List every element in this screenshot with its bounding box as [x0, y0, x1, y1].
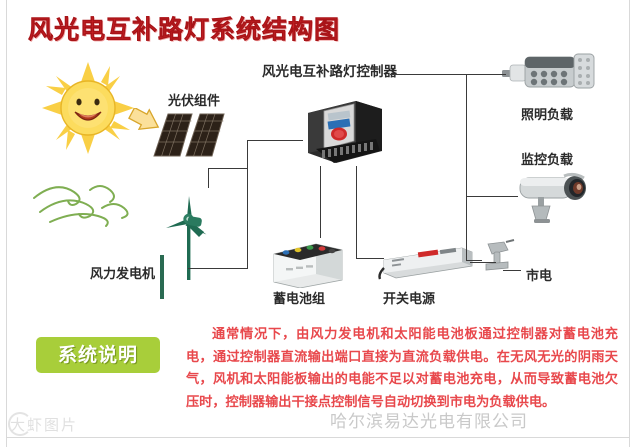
wire-controller-stub-left	[320, 166, 321, 180]
system-note-body: 通常情况下，由风力发电机和太阳能电池板通过控制器对蓄电池充电，通过控制器直流输出…	[186, 324, 618, 414]
solar-panel-icon	[152, 108, 236, 170]
sun-icon	[42, 62, 134, 154]
label-pv-module: 光伏组件	[168, 90, 220, 109]
wire-controller-stub-right	[356, 166, 357, 180]
wire-controller-to-battery	[320, 180, 321, 238]
frame-border-left	[6, 0, 7, 447]
wire-bus-to-controller	[247, 140, 303, 141]
wire-bus-to-camera	[466, 196, 518, 197]
wind-turbine-icon	[156, 188, 224, 280]
label-switching-power-supply: 开关电源	[383, 288, 435, 307]
wire-bus-to-lamp	[466, 74, 506, 75]
switching-power-supply-icon	[378, 246, 474, 280]
frame-border-bottom	[6, 437, 630, 438]
battery-icon	[270, 240, 346, 288]
divider-bar	[160, 255, 164, 299]
wire-controller-down	[356, 180, 357, 258]
wire-ps-to-bus	[470, 262, 496, 263]
wire-to-power-supply	[356, 258, 384, 259]
label-controller: 风光电互补路灯控制器	[262, 60, 397, 80]
wire-right-bus	[466, 74, 467, 260]
label-lighting-load: 照明负载	[521, 104, 573, 123]
wire-bus-to-mains	[466, 260, 482, 261]
watermark-company: 哈尔滨易达光电有限公司	[330, 407, 528, 432]
label-mains-power: 市电	[526, 265, 552, 284]
diagram-canvas: 风光电互补路灯系统结构图	[0, 0, 637, 447]
wire-controller-to-right-bus	[390, 74, 466, 75]
led-lamp-icon	[500, 48, 596, 94]
wind-swirl-icon	[28, 168, 138, 230]
wire-mains-to-label	[503, 270, 521, 271]
wire-pv-down	[208, 168, 209, 188]
watermark-logo-text: 大虾图片	[10, 414, 78, 435]
mains-power-icon	[478, 238, 518, 274]
wire-wind-to-bus	[188, 268, 248, 269]
page-title: 风光电互补路灯系统结构图	[28, 10, 340, 46]
label-battery-bank: 蓄电池组	[273, 288, 325, 307]
frame-border-right	[629, 0, 630, 447]
system-note-badge-label: 系统说明	[36, 337, 160, 373]
label-monitoring-load: 监控负载	[521, 149, 573, 168]
surveillance-camera-icon	[512, 168, 598, 228]
label-wind-generator: 风力发电机	[90, 263, 155, 282]
controller-device-icon	[302, 95, 388, 169]
wire-left-bus	[247, 140, 248, 268]
system-note-badge: 系统说明	[36, 337, 160, 373]
wire-pv-right	[208, 168, 248, 169]
